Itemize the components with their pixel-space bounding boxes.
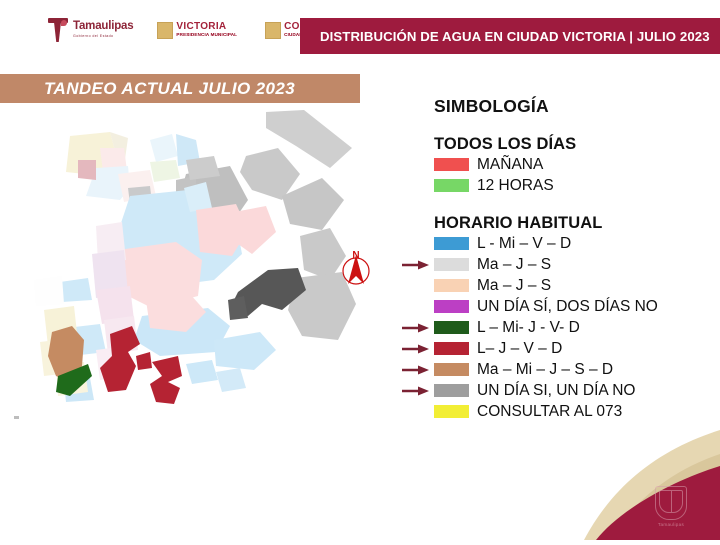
legend-label: Ma – Mi – J – S – D <box>477 361 613 379</box>
legend-arrow-slot <box>398 154 434 175</box>
page-title-main: DISTRIBUCIÓN DE AGUA EN CIUDAD VICTORIA … <box>320 29 637 44</box>
crest-label: Tamaulipas <box>650 522 692 527</box>
legend-swatch <box>434 405 469 418</box>
victoria-logo: VICTORIA PRESIDENCIA MUNICIPAL <box>153 20 241 41</box>
footer-corner-decoration: Tamaulipas <box>540 420 720 540</box>
victoria-emblem-icon <box>157 22 173 39</box>
legend-item: CONSULTAR AL 073 <box>398 401 718 422</box>
legend-swatch <box>434 342 469 355</box>
legend-label: UN DÍA SÍ, DOS DÍAS NO <box>477 298 658 316</box>
legend-item: MAÑANA <box>398 154 718 175</box>
corner-swoosh <box>540 420 720 540</box>
legend-swatch <box>434 237 469 250</box>
logo-group: Tamaulipas Gobierno del Estado VICTORIA … <box>48 18 334 42</box>
legend-label: L - Mi – V – D <box>477 235 571 253</box>
header-title-band: DISTRIBUCIÓN DE AGUA EN CIUDAD VICTORIA … <box>300 18 720 54</box>
legend-group-title-horario-habitual: HORARIO HABITUAL <box>434 214 718 233</box>
legend-swatch <box>434 321 469 334</box>
arrow-right-icon <box>402 323 430 333</box>
legend-swatch <box>434 179 469 192</box>
legend-arrow-slot <box>398 401 434 422</box>
legend-arrow-slot <box>398 338 434 359</box>
tamaulipas-logo-text: Tamaulipas <box>73 21 133 33</box>
tamaulipas-logo-subtext: Gobierno del Estado <box>73 35 133 39</box>
legend-item: UN DÍA SÍ, DOS DÍAS NO <box>398 296 718 317</box>
legend-label: Ma – J – S <box>477 277 551 295</box>
victoria-logo-subtext: PRESIDENCIA MUNICIPAL <box>176 33 237 38</box>
legend-swatch <box>434 384 469 397</box>
arrow-right-icon <box>402 344 430 354</box>
victoria-logo-text: VICTORIA <box>176 22 237 32</box>
legend-item: L – Mi- J - V- D <box>398 317 718 338</box>
compass-rose-icon: N <box>339 248 373 288</box>
legend-label: L– J – V – D <box>477 340 562 358</box>
arrow-right-icon <box>402 365 430 375</box>
legend-arrow-slot <box>398 317 434 338</box>
legend-item: Ma – J – S <box>398 275 718 296</box>
legend-swatch <box>434 279 469 292</box>
legend-arrow-slot <box>398 296 434 317</box>
legend-swatch <box>434 158 469 171</box>
legend-label: MAÑANA <box>477 156 543 174</box>
tamaulipas-logo: Tamaulipas Gobierno del Estado <box>48 18 133 42</box>
page-header: Tamaulipas Gobierno del Estado VICTORIA … <box>0 0 720 56</box>
legend-swatch <box>434 363 469 376</box>
legend-swatch <box>434 258 469 271</box>
page-title: DISTRIBUCIÓN DE AGUA EN CIUDAD VICTORIA … <box>300 29 710 44</box>
legend-arrow-slot <box>398 254 434 275</box>
legend-panel: SIMBOLOGÍA TODOS LOS DÍAS MAÑANA 12 HORA… <box>398 96 718 422</box>
map-zones <box>14 110 356 419</box>
legend-label: L – Mi- J - V- D <box>477 319 580 337</box>
legend-label: Ma – J – S <box>477 256 551 274</box>
legend-label: CONSULTAR AL 073 <box>477 403 622 421</box>
legend-arrow-slot <box>398 233 434 254</box>
legend-arrow-slot <box>398 275 434 296</box>
page-title-period: JULIO 2023 <box>637 29 710 44</box>
legend-item: L - Mi – V – D <box>398 233 718 254</box>
legend-label: 12 HORAS <box>477 177 554 195</box>
arrow-right-icon <box>402 386 430 396</box>
legend-swatch <box>434 300 469 313</box>
legend-item: Ma – J – S <box>398 254 718 275</box>
legend-arrow-slot <box>398 359 434 380</box>
legend-label: UN DÍA SI, UN DÍA NO <box>477 382 635 400</box>
legend-item: UN DÍA SI, UN DÍA NO <box>398 380 718 401</box>
legend-item: Ma – Mi – J – S – D <box>398 359 718 380</box>
tamaulipas-mark-icon <box>48 18 68 42</box>
legend-arrow-slot <box>398 380 434 401</box>
legend-group-title-todos-los-dias: TODOS LOS DÍAS <box>434 135 718 154</box>
section-banner: TANDEO ACTUAL JULIO 2023 <box>0 74 360 103</box>
legend-item: 12 HORAS <box>398 175 718 196</box>
legend-item: L– J – V – D <box>398 338 718 359</box>
section-banner-label: TANDEO ACTUAL JULIO 2023 <box>0 79 295 99</box>
comapa-emblem-icon <box>265 22 281 39</box>
slide-root: Tamaulipas Gobierno del Estado VICTORIA … <box>0 0 720 540</box>
arrow-right-icon <box>402 260 430 270</box>
legend-title: SIMBOLOGÍA <box>434 96 718 117</box>
legend-arrow-slot <box>398 175 434 196</box>
tamaulipas-crest-icon: Tamaulipas <box>650 486 692 532</box>
